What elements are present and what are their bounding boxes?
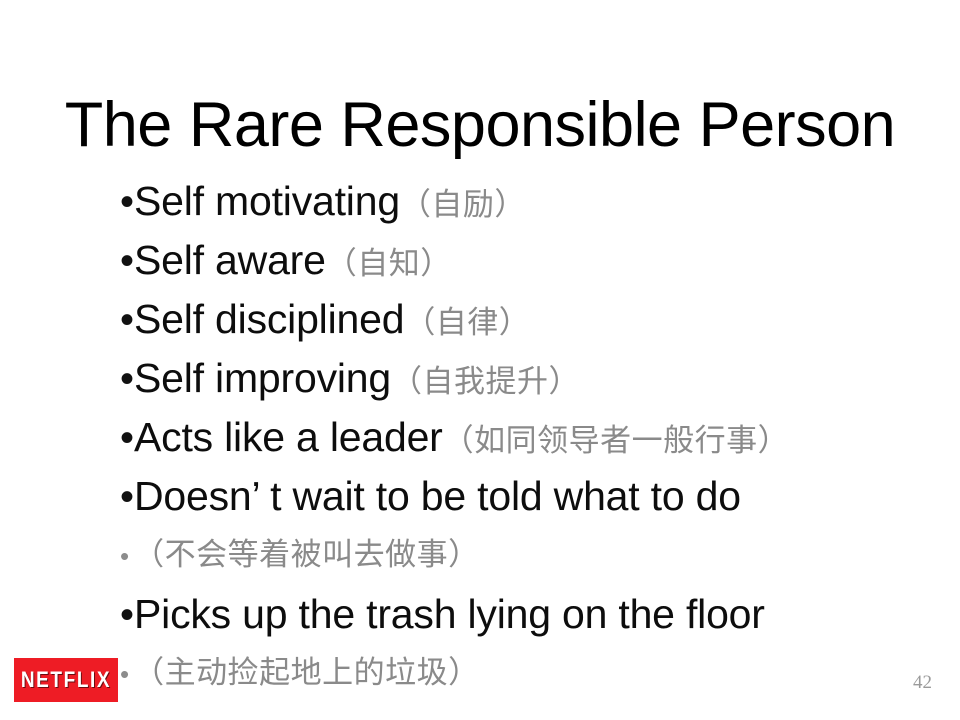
bullet-point-icon: • [120,409,134,468]
bullet-english-text: Self improving [134,349,391,408]
bullet-english-text: Picks up the trash lying on the floor [134,585,765,644]
bullet-chinese-text: （如同领导者一般行事） [443,412,790,471]
bullet-point-icon: • [120,232,134,291]
bullet-list: •Self motivating（自励）•Self aware（自知）•Self… [120,172,940,703]
netflix-wordmark: NETFLIX [21,669,111,691]
bullet-chinese-text: （自励） [400,176,526,235]
bullet-point-icon: • [120,291,134,350]
bullet-point-icon: • [120,468,134,527]
page-number: 42 [913,672,932,694]
bullet-chinese-text: （不会等着被叫去做事） [129,526,480,585]
bullet-english-text: Acts like a leader [134,408,443,467]
bullet-chinese-text: （自律） [404,294,530,353]
bullet-chinese-text: （自我提升） [391,353,580,412]
bullet-item: •（不会等着被叫去做事） [120,526,940,585]
bullet-english-text: Self motivating [134,172,400,231]
bullet-item: •Doesn’ t wait to be told what to do [120,467,940,526]
bullet-item: •Acts like a leader（如同领导者一般行事） [120,408,940,467]
bullet-item: •Self aware（自知） [120,231,940,290]
bullet-item: •Picks up the trash lying on the floor [120,585,940,644]
netflix-logo: NETFLIX [14,658,118,702]
page-title: The Rare Responsible Person [0,92,960,158]
bullet-point-icon: • [120,173,134,232]
bullet-english-text: Self disciplined [134,290,404,349]
bullet-item: •Self disciplined（自律） [120,290,940,349]
slide-canvas: The Rare Responsible Person •Self motiva… [0,0,960,720]
bullet-chinese-text: （主动捡起地上的垃圾） [129,644,480,703]
bullet-english-text: Doesn’ t wait to be told what to do [134,467,741,526]
bullet-point-icon: • [120,350,134,409]
bullet-english-text: Self aware [134,231,326,290]
bullet-item: •（主动捡起地上的垃圾） [120,644,940,703]
bullet-item: •Self motivating（自励） [120,172,940,231]
bullet-point-icon: • [120,527,129,586]
bullet-chinese-text: （自知） [326,235,452,294]
bullet-point-icon: • [120,586,134,645]
bullet-point-icon: • [120,645,129,704]
bullet-item: •Self improving（自我提升） [120,349,940,408]
